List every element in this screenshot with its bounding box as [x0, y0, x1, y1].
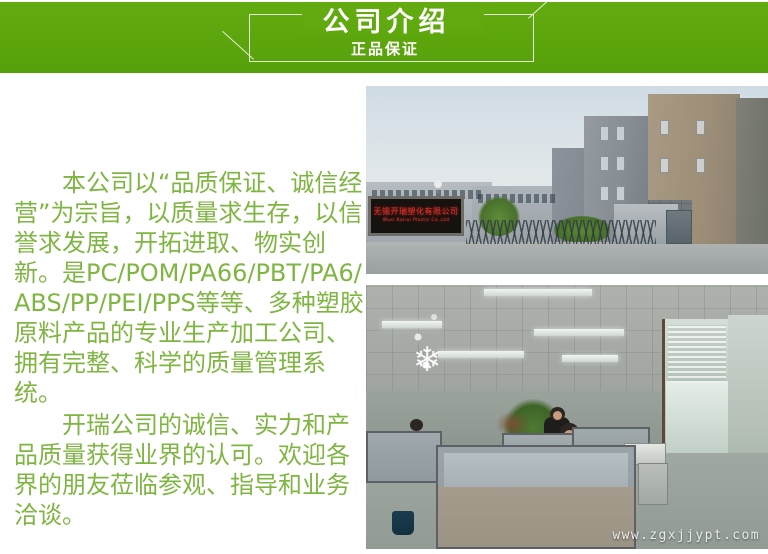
site-watermark: www.zgxjjypt.com — [612, 528, 760, 543]
header-banner: 公司介绍 正品保证 — [0, 2, 768, 73]
description-paragraph-1: 本公司以“品质保证、诚信经营”为宗旨，以质量求生存，以信誉求发展，开拓进取、物实… — [14, 168, 364, 408]
window-b3 — [696, 120, 705, 135]
window-a5 — [600, 186, 609, 201]
ceiling-light-4 — [562, 355, 618, 362]
cubicle-foreground — [436, 445, 636, 549]
window-a3 — [600, 156, 609, 171]
ceiling-light-2 — [534, 329, 624, 336]
window-a6 — [616, 186, 625, 201]
ceiling-light-1 — [484, 289, 592, 296]
window-blinds — [668, 325, 726, 383]
waste-bin — [392, 511, 414, 535]
led-company-sign: 无锡开瑞塑化有限公司 Wuxi Kairui Plastic Co.,Ltd — [368, 196, 464, 236]
employee-left-head — [410, 419, 423, 431]
street-lamp — [434, 180, 442, 188]
cubicle-left — [366, 431, 442, 483]
ceiling-light-3 — [438, 351, 524, 358]
entrance-door — [666, 210, 692, 244]
led-sign-chinese: 无锡开瑞塑化有限公司 — [374, 207, 459, 217]
company-introduction-page: 公司介绍 正品保证 本公司以“品质保证、诚信经营”为宗旨，以质量求生存，以信誉求… — [0, 0, 768, 554]
window-a1 — [600, 126, 609, 141]
photo-column: 无锡开瑞塑化有限公司 Wuxi Kairui Plastic Co.,Ltd ❄ — [366, 86, 768, 549]
window-a4 — [616, 156, 625, 171]
employee-back-face — [553, 411, 562, 420]
window-b1 — [660, 120, 669, 135]
description-paragraph-2: 开瑞公司的诚信、实力和产品质量获得业界的认可。欢迎各界的朋友莅临参观、指导和业务… — [14, 410, 364, 530]
led-sign-english: Wuxi Kairui Plastic Co.,Ltd — [383, 217, 450, 225]
banner-title: 公司介绍 — [0, 8, 768, 38]
retractable-gate — [466, 220, 656, 244]
snowflake-ornament: ❄ — [410, 343, 444, 377]
company-description: 本公司以“品质保证、诚信经营”为宗旨，以质量求生存，以信誉求发展，开拓进取、物实… — [14, 168, 364, 530]
building-far-right — [736, 98, 768, 244]
office-interior-photo: ❄ www.zgxjjypt.com — [366, 285, 768, 549]
window-b4 — [696, 158, 705, 173]
window-a2 — [616, 126, 625, 141]
factory-exterior-photo: 无锡开瑞塑化有限公司 Wuxi Kairui Plastic Co.,Ltd — [366, 86, 768, 274]
filing-cabinet — [638, 463, 668, 505]
window-b2 — [660, 158, 669, 173]
banner-subtitle: 正品保证 — [0, 40, 768, 59]
